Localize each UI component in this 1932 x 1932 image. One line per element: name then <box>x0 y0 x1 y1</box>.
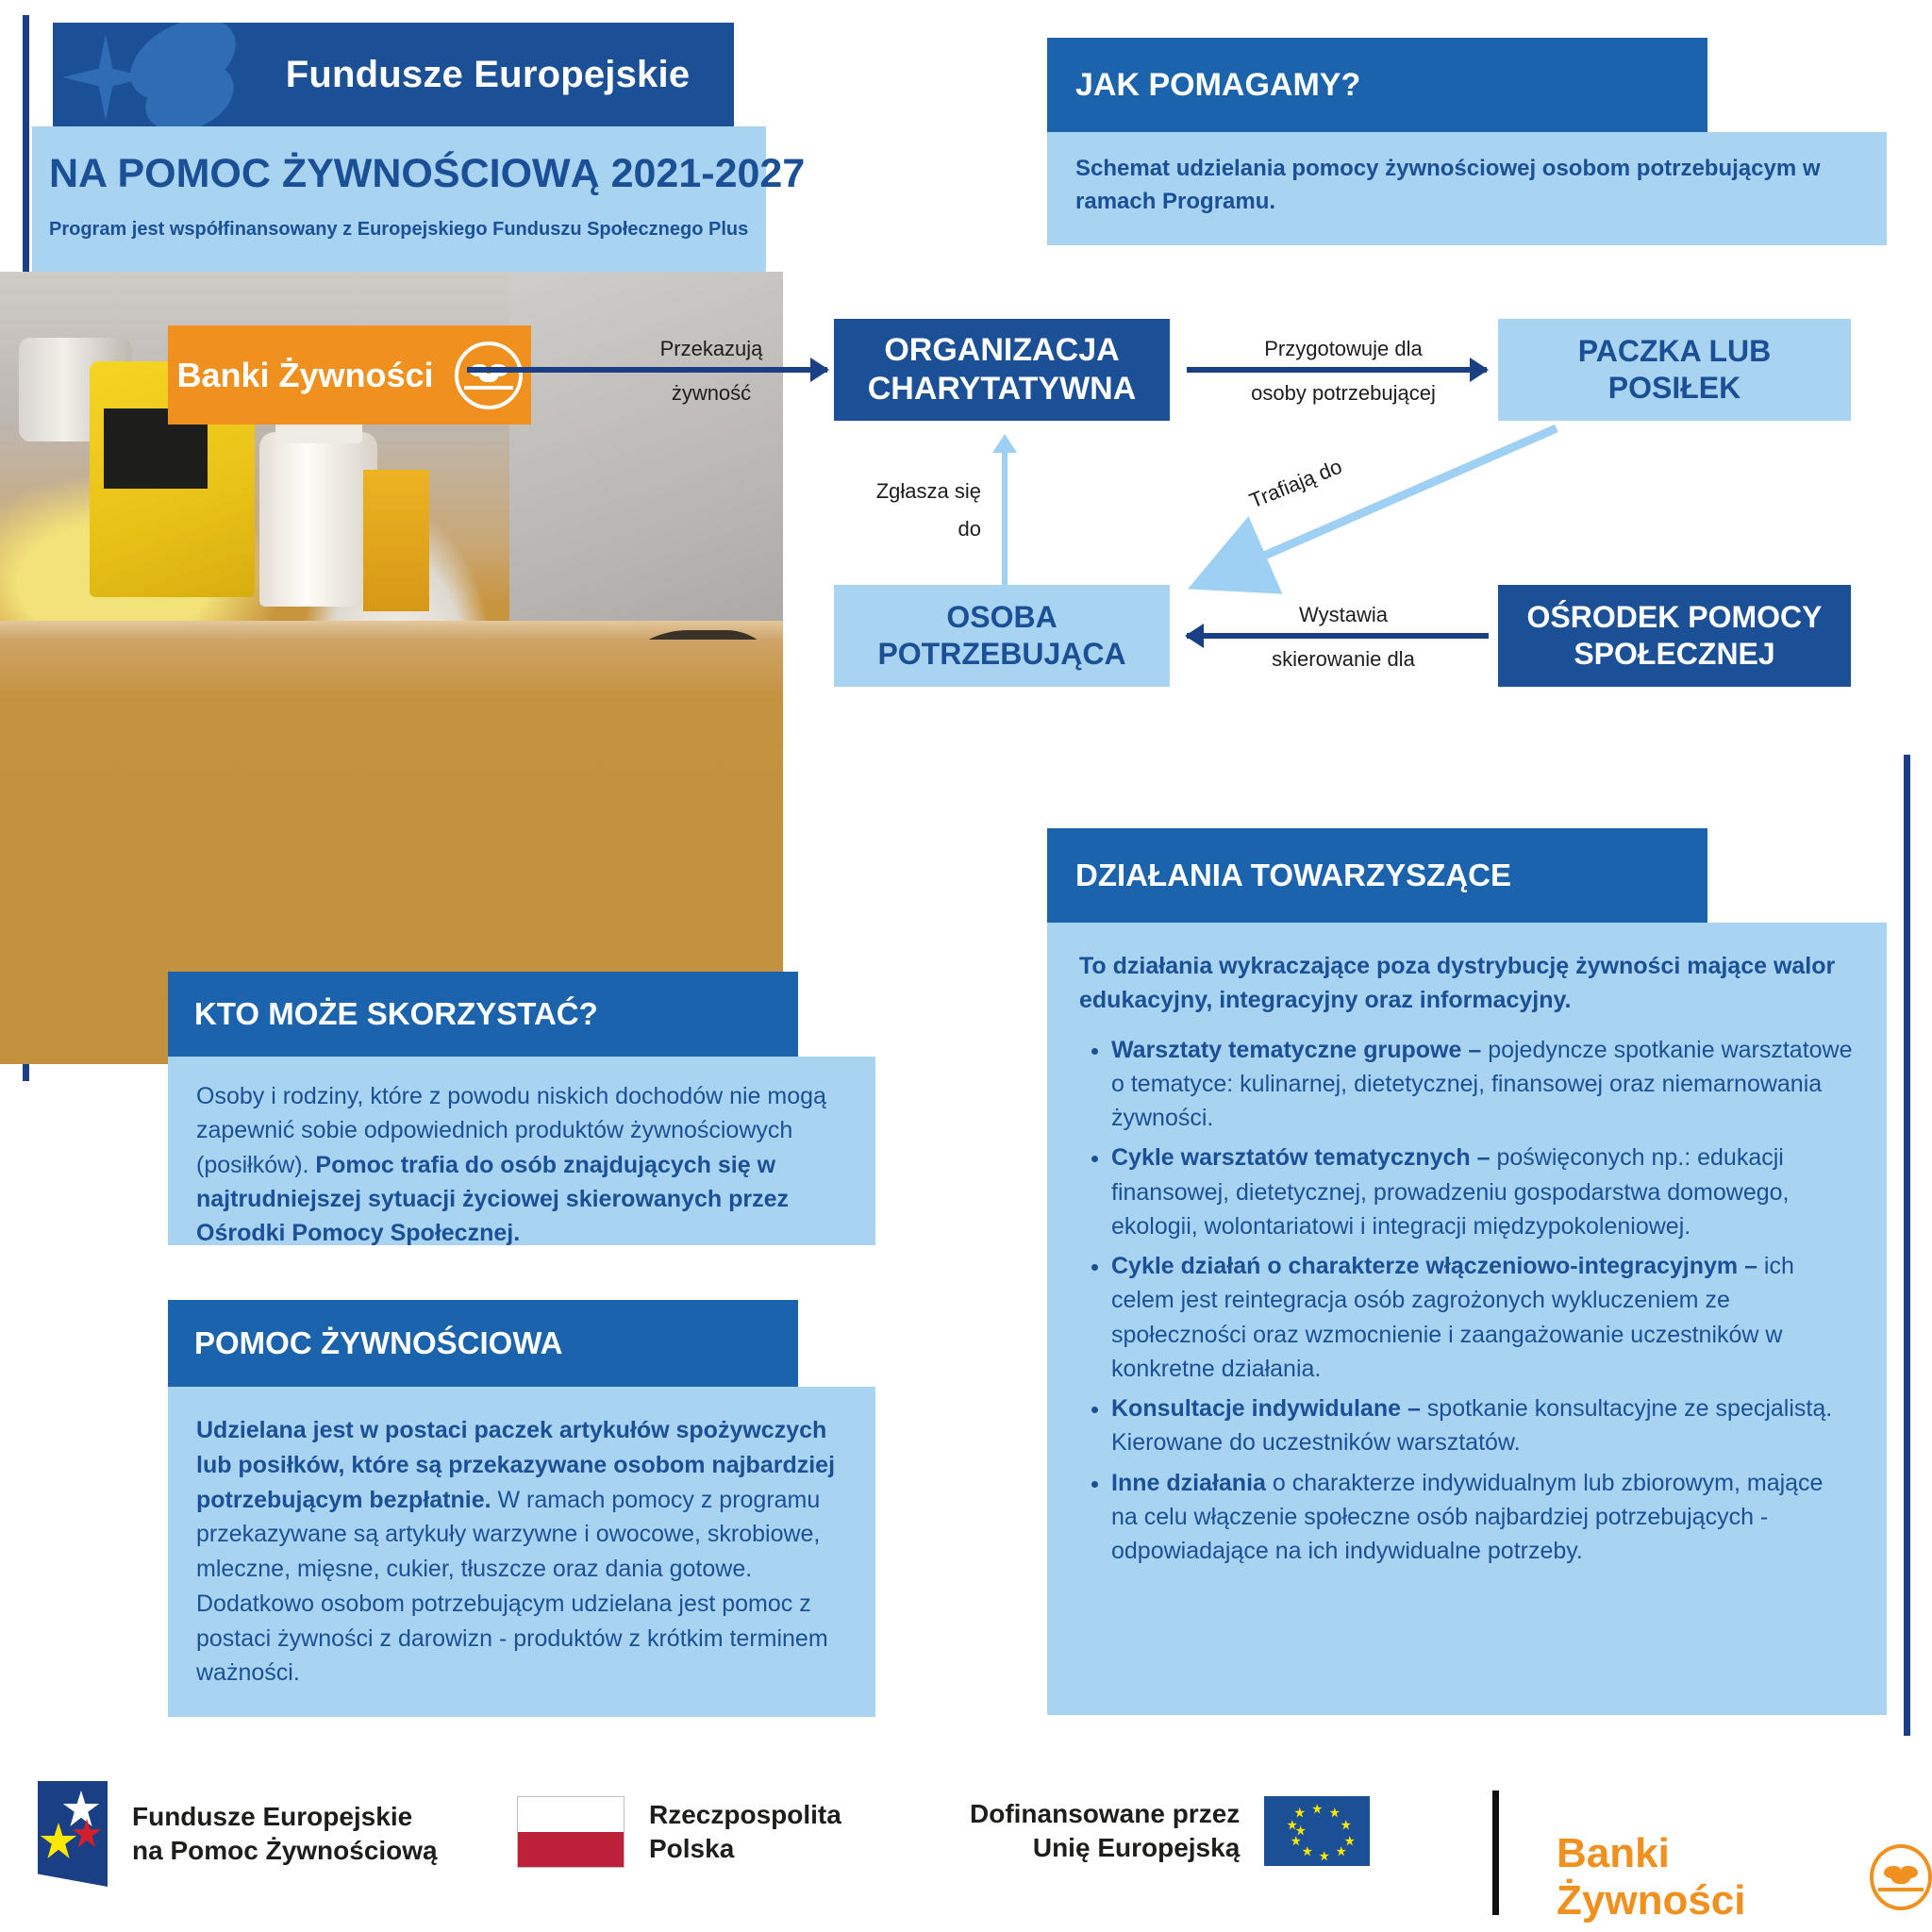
flow-node-organizacja-line2: CHARYTATYWNA <box>868 370 1137 408</box>
list-item-bold: Cykle działań o charakterze włączeniowo-… <box>1111 1253 1764 1279</box>
flow-node-osrodek-pomocy-spolecznej: OŚRODEK POMOCY SPOŁECZNEJ <box>1498 585 1851 687</box>
banki-zywnosci-birds-icon <box>455 341 523 409</box>
list-item: Warsztaty tematyczne grupowe – pojedyncz… <box>1111 1033 1855 1136</box>
flow-node-osoba-line2: POTRZEBUJĄCA <box>877 636 1125 673</box>
list-item-bold: Warsztaty tematyczne grupowe – <box>1111 1037 1488 1063</box>
eu-stars-graphic <box>53 23 270 126</box>
arrow-paczka-to-osoba <box>1179 415 1575 604</box>
footer-logo-fundusze-europejskie: Fundusze Europejskie na Pomoc Żywnościow… <box>38 1781 438 1887</box>
flow-node-osrodek-line2: SPOŁECZNEJ <box>1574 636 1774 673</box>
dzialania-towarzyszace-header: DZIAŁANIA TOWARZYSZĄCE <box>1047 828 1707 923</box>
pomoc-zywnosciowa-body: Udzielana jest w postaci paczek artykułó… <box>168 1387 875 1717</box>
banki-zywnosci-birds-icon <box>1870 1844 1932 1910</box>
infographic-root: Fundusze Europejskie NA POMOC ŻYWNOŚCIOW… <box>0 0 1932 1932</box>
list-item-bold: Konsultacje indywidulane – <box>1111 1395 1427 1422</box>
arrow-organizacja-to-paczka <box>1187 367 1487 373</box>
list-item: Inne działania o charakterze indywidualn… <box>1111 1466 1855 1569</box>
footer-fe-line1: Fundusze Europejskie <box>132 1802 412 1831</box>
footer-logo-unia-europejska: Dofinansowane przez Unię Europejską <box>970 1796 1370 1866</box>
arrow-osoba-to-organizacja <box>1002 451 1008 592</box>
list-item-bold: Cykle warsztatów tematycznych – <box>1111 1144 1497 1171</box>
footer-logo-banki-zywnosci: Banki Żywności <box>1557 1830 1932 1924</box>
flow-node-paczka-line2: POSIŁEK <box>1608 370 1740 407</box>
program-cofinancing-note: Program jest współfinansowany z Europejs… <box>49 219 748 241</box>
banki-zywnosci-chip-label: Banki Żywności <box>176 356 433 395</box>
edge-label-wystawia: Wystawia <box>1200 601 1487 629</box>
edge-label-przygotowuje: Przygotowuje dla <box>1200 335 1487 363</box>
fe-badge-title: Fundusze Europejskie <box>241 23 734 126</box>
pomoc-zywnosciowa-title: POMOC ŻYWNOŚCIOWA <box>194 1325 563 1361</box>
flow-node-osoba-potrzebujaca: OSOBA POTRZEBUJĄCA <box>834 585 1170 687</box>
jak-pomagamy-header: JAK POMAGAMY? <box>1047 38 1707 132</box>
edge-label-do: do <box>830 515 981 543</box>
kto-moze-skorzystac-body: Osoby i rodziny, które z powodu niskich … <box>168 1057 875 1245</box>
flow-node-paczka-line1: PACZKA LUB <box>1578 333 1771 370</box>
footer-divider <box>1492 1790 1499 1915</box>
dzialania-list: Warsztaty tematyczne grupowe – pojedyncz… <box>1079 1033 1855 1569</box>
right-vertical-rule <box>1904 755 1910 1736</box>
edge-label-zywnosc: żywność <box>608 379 815 408</box>
flow-node-osrodek-line1: OŚRODEK POMOCY <box>1527 599 1823 636</box>
edge-label-skierowanie-dla: skierowanie dla <box>1200 645 1487 674</box>
arrow-banki-to-organizacja <box>467 367 827 373</box>
edge-label-zglasza-sie: Zgłasza się <box>830 477 981 506</box>
list-item-bold: Inne działania <box>1111 1470 1273 1496</box>
footer-eu-line1: Dofinansowane przez <box>970 1799 1240 1828</box>
flow-node-paczka-lub-posilek: PACZKA LUB POSIŁEK <box>1498 319 1851 421</box>
jak-pomagamy-description: Schemat udzielania pomocy żywnościowej o… <box>1075 156 1821 214</box>
footer-eu-text: Dofinansowane przez Unię Europejską <box>970 1797 1240 1865</box>
dzialania-towarzyszace-title: DZIAŁANIA TOWARZYSZĄCE <box>1075 858 1511 893</box>
program-title-block: NA POMOC ŻYWNOŚCIOWĄ 2021-2027 Program j… <box>32 126 766 272</box>
poland-flag-icon <box>517 1796 625 1868</box>
banki-zywnosci-chip: Banki Żywności <box>168 325 531 425</box>
flow-node-organizacja-charytatywna: ORGANIZACJA CHARYTATYWNA <box>834 319 1170 421</box>
footer-logo-rzeczpospolita-polska: Rzeczpospolita Polska <box>517 1796 841 1868</box>
flow-node-osoba-line1: OSOBA <box>946 599 1057 636</box>
footer-fe-line2: na Pomoc Żywnościową <box>132 1836 438 1865</box>
jak-pomagamy-body: Schemat udzielania pomocy żywnościowej o… <box>1047 132 1887 245</box>
kto-moze-skorzystac-title: KTO MOŻE SKORZYSTAĆ? <box>194 996 598 1032</box>
kto-moze-skorzystac-header: KTO MOŻE SKORZYSTAĆ? <box>168 972 798 1057</box>
list-item: Cykle działań o charakterze włączeniowo-… <box>1111 1249 1855 1386</box>
arrow-osrodek-to-osoba <box>1187 633 1489 639</box>
edge-label-przekazuja: Przekazują <box>608 335 815 363</box>
list-item: Cykle warsztatów tematycznych – poświęco… <box>1111 1141 1855 1243</box>
photo-bottle <box>259 432 377 607</box>
photo-pasta-pack <box>363 470 429 611</box>
fundusze-europejskie-badge: Fundusze Europejskie <box>53 23 734 126</box>
footer-rp-line2: Polska <box>649 1834 734 1863</box>
jak-pomagamy-title: JAK POMAGAMY? <box>1075 67 1360 104</box>
pomoc-text-plain: W ramach pomocy z programu przekazywane … <box>196 1487 828 1687</box>
footer-eu-line2: Unię Europejską <box>1033 1833 1240 1862</box>
dzialania-intro: To działania wykraczające poza dystrybuc… <box>1079 953 1835 1013</box>
dzialania-towarzyszace-body: To działania wykraczające poza dystrybuc… <box>1047 923 1887 1715</box>
program-title: NA POMOC ŻYWNOŚCIOWĄ 2021-2027 <box>49 151 805 197</box>
footer-bz-label: Banki Żywności <box>1557 1830 1853 1924</box>
pomoc-zywnosciowa-header: POMOC ŻYWNOŚCIOWA <box>168 1300 798 1387</box>
flow-node-organizacja-line1: ORGANIZACJA <box>884 331 1119 370</box>
footer-rp-line1: Rzeczpospolita <box>649 1800 841 1829</box>
footer-rp-text: Rzeczpospolita Polska <box>649 1798 841 1866</box>
footer-fe-text: Fundusze Europejskie na Pomoc Żywnościow… <box>132 1800 438 1868</box>
fundusze-europejskie-flag-icon <box>38 1781 108 1887</box>
list-item: Konsultacje indywidulane – spotkanie kon… <box>1111 1391 1855 1460</box>
european-union-flag-icon <box>1264 1796 1370 1866</box>
edge-label-osoby-potrzebujacej: osoby potrzebującej <box>1200 379 1487 408</box>
